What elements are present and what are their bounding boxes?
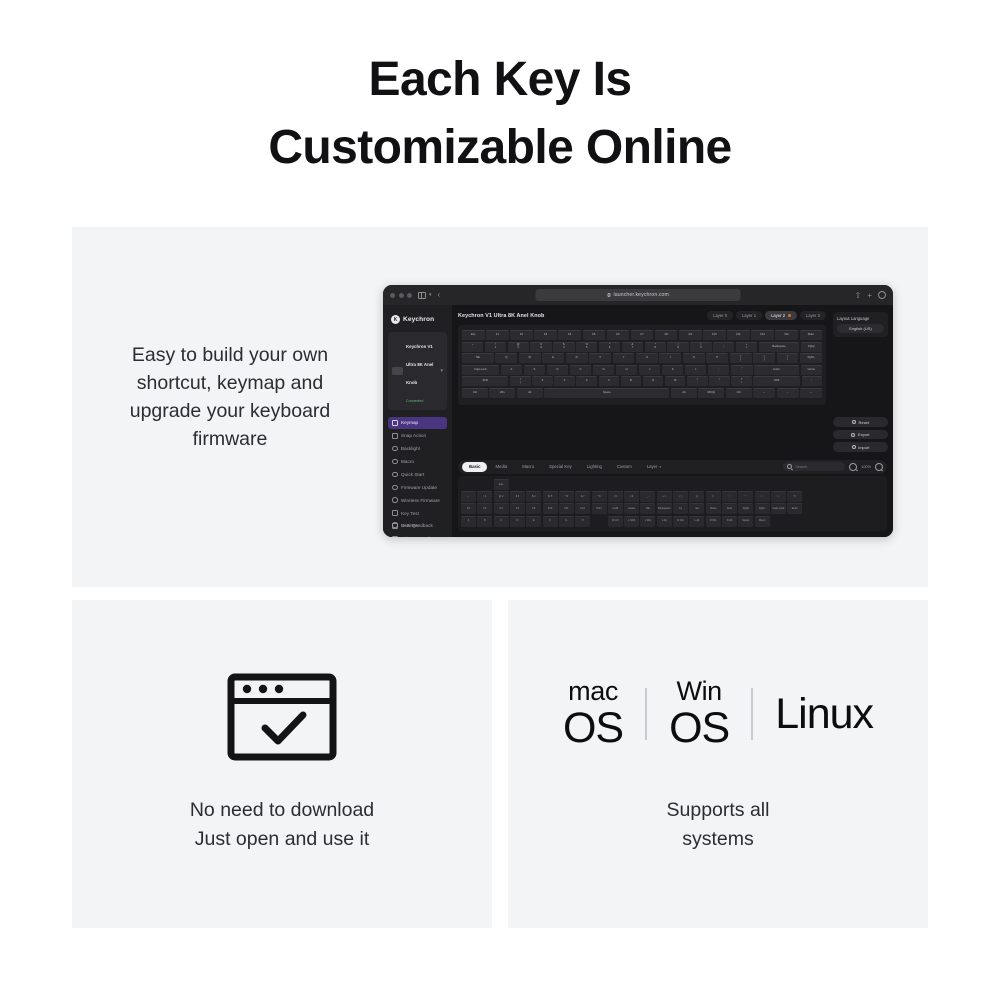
palette-row: F1F2F3F4F5F10F11F12PrintscrollpauseTabBa… bbox=[461, 503, 884, 514]
key-z[interactable]: Z bbox=[532, 376, 553, 386]
key-enter[interactable]: Enter bbox=[754, 365, 799, 375]
palette-key-blank bbox=[853, 503, 868, 514]
key--[interactable]: "' bbox=[731, 365, 752, 375]
os-divider-1 bbox=[645, 688, 647, 740]
tab-label: Macro bbox=[522, 464, 534, 469]
palette-key-end[interactable]: End bbox=[722, 503, 737, 514]
key-f[interactable]: F bbox=[570, 365, 591, 375]
tab-label: Media bbox=[495, 464, 507, 469]
key--[interactable]: ← bbox=[753, 388, 775, 398]
sidebar-footer: Settings bbox=[388, 519, 447, 531]
layer-tab-1[interactable]: Layer 1 bbox=[736, 311, 762, 320]
right-panel-actions: ResetExportImport bbox=[833, 417, 888, 452]
palette-key-blank bbox=[820, 479, 835, 490]
key--8[interactable]: *8 bbox=[645, 342, 666, 352]
palette-key-space[interactable]: Space bbox=[738, 516, 753, 527]
gear-icon bbox=[392, 522, 398, 528]
key-l[interactable]: L bbox=[685, 365, 706, 375]
palette-key-print[interactable]: Print bbox=[592, 503, 607, 514]
tab-layer[interactable]: Layer▾ bbox=[640, 462, 669, 472]
palette-key-tab[interactable]: Tab bbox=[640, 503, 655, 514]
palette-key-blank bbox=[510, 479, 525, 490]
key--0[interactable]: )0 bbox=[690, 342, 711, 352]
key--5[interactable]: %5 bbox=[576, 342, 597, 352]
key-f12[interactable]: F12 bbox=[751, 330, 774, 340]
key-f8[interactable]: F8 bbox=[655, 330, 678, 340]
palette-key-blank bbox=[771, 479, 786, 490]
toolbar-tools: Search 100% bbox=[783, 462, 883, 471]
key-f6[interactable]: F6 bbox=[607, 330, 630, 340]
macro-icon bbox=[392, 459, 398, 465]
sidebar-item-label: Wireless Firmware bbox=[401, 498, 440, 503]
os-support-caption: Supports all systems bbox=[508, 796, 928, 854]
keycode-tabs: BasicMediaMacroSpecial KeyLightingCustom… bbox=[462, 462, 668, 472]
palette-key-home[interactable]: Home bbox=[706, 503, 721, 514]
palette-key-f10[interactable]: F10 bbox=[543, 503, 558, 514]
sidebar-item-label: Backlight bbox=[401, 446, 420, 451]
palette-key-blank bbox=[624, 479, 639, 490]
palette-key-f5[interactable]: F5 bbox=[526, 503, 541, 514]
export-button[interactable]: Export bbox=[833, 430, 888, 440]
palette-key-blank bbox=[657, 479, 672, 490]
palette-key--[interactable]: : ; bbox=[722, 491, 737, 502]
key-f11[interactable]: F11 bbox=[727, 330, 750, 340]
key--[interactable]: ~` bbox=[462, 342, 483, 352]
zoom-in-icon[interactable] bbox=[875, 463, 883, 471]
palette-key-h[interactable]: H bbox=[575, 516, 590, 527]
app-screenshot-mock: ▾ ‹ launcher.keychron.com ⇧ + K Keychron bbox=[383, 285, 893, 537]
reset-icon bbox=[852, 420, 856, 424]
key--4[interactable]: $4 bbox=[553, 342, 574, 352]
key-f1[interactable]: F1 bbox=[486, 330, 509, 340]
palette-key--6[interactable]: ^ 6 bbox=[559, 491, 574, 502]
palette-key-blank bbox=[689, 479, 704, 490]
palette-key-menu[interactable]: Menu bbox=[755, 516, 770, 527]
palette-key-blank bbox=[804, 503, 819, 514]
palette-key-e[interactable]: E bbox=[526, 516, 541, 527]
key--9[interactable]: (9 bbox=[667, 342, 688, 352]
palette-key-l-win[interactable]: L Win bbox=[640, 516, 655, 527]
tab-label: Custom bbox=[617, 464, 632, 469]
page-title: Each Key Is Customizable Online bbox=[0, 46, 1000, 182]
palette-row: ABCDEFGHR CtrlL ShiftL WinL AltR CtrlL A… bbox=[461, 516, 884, 527]
palette-key-enter[interactable]: Enter bbox=[787, 503, 802, 514]
layer-tab-3[interactable]: Layer 3 bbox=[800, 311, 826, 320]
caption-line-2: Just open and use it bbox=[195, 828, 370, 850]
palette-key-pause[interactable]: pause bbox=[624, 503, 639, 514]
headline-line-1: Each Key Is bbox=[369, 53, 632, 106]
key--[interactable]: ↑ bbox=[802, 376, 823, 386]
palette-key--0[interactable]: ) 0 bbox=[624, 491, 639, 502]
palette-row: Esc bbox=[461, 479, 884, 490]
reset-button[interactable]: Reset bbox=[833, 417, 888, 427]
wireless-firmware-icon bbox=[392, 497, 398, 503]
app-main: Keychron V1 Ultra 8K Anel Knob Layer 0La… bbox=[452, 305, 893, 537]
sidebar-item-key-test[interactable]: Key Test bbox=[388, 507, 447, 519]
key-test-icon bbox=[392, 510, 398, 516]
keyboard-row: EscF1F2F3F4F5F6F7F8F9F10F11F12DelMute bbox=[462, 330, 822, 340]
tab-special-key[interactable]: Special Key bbox=[542, 462, 579, 472]
key-ctrl[interactable]: Ctrl bbox=[462, 388, 488, 398]
key-shift[interactable]: Shift bbox=[462, 376, 508, 386]
feature-card-no-download bbox=[72, 600, 492, 928]
top-card-blurb: Easy to build your own shortcut, keymap … bbox=[106, 341, 354, 453]
os-lockup: mac OS Win OS Linux bbox=[508, 668, 928, 760]
sidebar-item-label: Key Test bbox=[401, 511, 419, 516]
advance-mode-icon bbox=[392, 536, 398, 537]
tab-lighting[interactable]: Lighting bbox=[580, 462, 609, 472]
keyboard-row: Shift\|ZXCVBNM<,>.?/Shift↑ bbox=[462, 376, 822, 386]
traffic-lights-icon[interactable] bbox=[390, 293, 412, 298]
palette-key-blank bbox=[559, 479, 574, 490]
key--7[interactable]: &7 bbox=[622, 342, 643, 352]
browser-chrome: ▾ ‹ launcher.keychron.com ⇧ + bbox=[383, 285, 893, 305]
palette-key-d[interactable]: D bbox=[510, 516, 525, 527]
key-pgdn[interactable]: PgDn bbox=[800, 353, 822, 363]
key-f3[interactable]: F3 bbox=[534, 330, 557, 340]
key-backspace[interactable]: Backspace bbox=[759, 342, 799, 352]
sidebar-item-keymap[interactable]: Keymap bbox=[388, 417, 447, 429]
key--[interactable]: }] bbox=[753, 353, 775, 363]
palette-key-c[interactable]: C bbox=[494, 516, 509, 527]
key-v[interactable]: V bbox=[599, 376, 620, 386]
sidebar-item-quick-start[interactable]: Quick Start bbox=[388, 469, 447, 481]
palette-key-blank bbox=[804, 516, 819, 527]
export-icon bbox=[851, 433, 855, 437]
palette-key-del[interactable]: del bbox=[689, 503, 704, 514]
search-placeholder: Search bbox=[795, 465, 807, 469]
key-ctrl[interactable]: Ctrl bbox=[726, 388, 752, 398]
tabs-overview-icon[interactable] bbox=[878, 291, 886, 299]
key--[interactable]: ?/ bbox=[731, 376, 752, 386]
palette-key--5[interactable]: % 5 bbox=[543, 491, 558, 502]
key-f5[interactable]: F5 bbox=[583, 330, 606, 340]
key--1[interactable]: !1 bbox=[485, 342, 506, 352]
keyboard-title: Keychron V1 Ultra 8K Anel Knob bbox=[458, 313, 544, 319]
palette-key-f4[interactable]: F4 bbox=[510, 503, 525, 514]
key-f10[interactable]: F10 bbox=[703, 330, 726, 340]
caption-line-2: systems bbox=[682, 828, 754, 850]
key--[interactable]: ↓ bbox=[777, 388, 799, 398]
sidebar-item-snap-action[interactable]: Snap Action bbox=[388, 430, 447, 442]
palette-key--[interactable]: ? / bbox=[787, 491, 802, 502]
palette-key-blank bbox=[853, 516, 868, 527]
browser-toolbar-right[interactable]: ⇧ + bbox=[855, 291, 886, 300]
key--[interactable]: \| bbox=[510, 376, 531, 386]
palette-key-r-win[interactable]: R Win bbox=[706, 516, 721, 527]
key-x[interactable]: X bbox=[554, 376, 575, 386]
zoom-out-icon[interactable] bbox=[849, 463, 857, 471]
key--[interactable]: {[ bbox=[730, 353, 752, 363]
share-icon[interactable]: ⇧ bbox=[855, 291, 862, 300]
device-selector[interactable]: Keychron V1 Ultra 8K Anel Knob Connected… bbox=[388, 332, 447, 410]
palette-key-r-alt[interactable]: R Alt bbox=[722, 516, 737, 527]
key--[interactable]: → bbox=[800, 388, 822, 398]
tab-label: Layer bbox=[647, 464, 658, 469]
keychron-mark-icon: K bbox=[391, 315, 400, 324]
palette-key-f[interactable]: F bbox=[543, 516, 558, 527]
sidebar-item-settings[interactable]: Settings bbox=[388, 519, 447, 531]
key-f7[interactable]: F7 bbox=[631, 330, 654, 340]
sidebar-item-label: Keymap bbox=[401, 420, 418, 425]
keycode-toolbar: BasicMediaMacroSpecial KeyLightingCustom… bbox=[458, 460, 887, 474]
key-esc[interactable]: Esc bbox=[462, 330, 485, 340]
key-s[interactable]: S bbox=[524, 365, 545, 375]
key-i[interactable]: I bbox=[659, 353, 681, 363]
palette-key-blank bbox=[755, 479, 770, 490]
keyboard-header: Keychron V1 Ultra 8K Anel Knob Layer 0La… bbox=[458, 311, 826, 320]
palette-key-g[interactable]: G bbox=[559, 516, 574, 527]
layer-tab-0[interactable]: Layer 0 bbox=[707, 311, 733, 320]
key-m[interactable]: M bbox=[665, 376, 686, 386]
sidebar-item-firmware-update[interactable]: Firmware Update bbox=[388, 481, 447, 493]
palette-key-scroll[interactable]: scroll bbox=[608, 503, 623, 514]
key-y[interactable]: Y bbox=[613, 353, 635, 363]
key-tab[interactable]: Tab bbox=[462, 353, 494, 363]
palette-key--2[interactable]: @ 2 bbox=[494, 491, 509, 502]
app-body: K Keychron Keychron V1 Ultra 8K Anel Kno… bbox=[383, 305, 893, 537]
key--[interactable]: :; bbox=[708, 365, 729, 375]
key-pgup[interactable]: PgUp bbox=[801, 342, 822, 352]
sidebar-item-backlight[interactable]: Backlight bbox=[388, 443, 447, 455]
keyboard-diagram[interactable]: EscF1F2F3F4F5F6F7F8F9F10F11F12DelMute~`!… bbox=[458, 325, 826, 405]
palette-key--[interactable]: > . bbox=[771, 491, 786, 502]
tab-label: Lighting bbox=[587, 464, 602, 469]
key-t[interactable]: T bbox=[589, 353, 611, 363]
palette-key-b[interactable]: B bbox=[477, 516, 492, 527]
keycode-palette[interactable]: Esc~ `! 1@ 2# 3$ 4% 5^ 6& 7* 8( 9) 0_ -+… bbox=[458, 476, 887, 531]
lock-icon bbox=[607, 293, 611, 297]
palette-key-blank bbox=[592, 516, 607, 527]
new-tab-icon[interactable]: + bbox=[867, 291, 872, 300]
key-f4[interactable]: F4 bbox=[558, 330, 581, 340]
keyboard-visual-wrap: Keychron V1 Ultra 8K Anel Knob Layer 0La… bbox=[452, 305, 831, 457]
key-p[interactable]: P bbox=[706, 353, 728, 363]
sidebar-toggle-icon[interactable]: ▾ bbox=[418, 292, 432, 299]
key-b[interactable]: B bbox=[621, 376, 642, 386]
key-e[interactable]: E bbox=[542, 353, 564, 363]
palette-key-blank bbox=[804, 479, 819, 490]
caption-line-1: No need to download bbox=[190, 799, 374, 821]
palette-key-esc[interactable]: Esc bbox=[494, 479, 509, 490]
key-n[interactable]: N bbox=[643, 376, 664, 386]
palette-key-blank bbox=[640, 479, 655, 490]
caption-line-1: Supports all bbox=[667, 799, 770, 821]
key-caps-lock[interactable]: Caps Lock bbox=[462, 365, 499, 375]
key-home[interactable]: Home bbox=[801, 365, 822, 375]
palette-key-blank bbox=[869, 479, 884, 490]
layer-tab-label: Layer 3 bbox=[806, 313, 820, 318]
palette-key-blank bbox=[608, 479, 623, 490]
palette-key-f1[interactable]: F1 bbox=[461, 503, 476, 514]
os-macos-small: mac bbox=[568, 678, 618, 705]
key-del[interactable]: Del bbox=[775, 330, 798, 340]
palette-key--[interactable]: + = bbox=[657, 491, 672, 502]
key--2[interactable]: @2 bbox=[508, 342, 529, 352]
palette-key--9[interactable]: ( 9 bbox=[608, 491, 623, 502]
palette-key-blank bbox=[869, 503, 884, 514]
palette-key--4[interactable]: $ 4 bbox=[526, 491, 541, 502]
sidebar-item-macro[interactable]: Macro bbox=[388, 456, 447, 468]
key-o[interactable]: O bbox=[683, 353, 705, 363]
palette-key-f3[interactable]: F3 bbox=[494, 503, 509, 514]
key-g[interactable]: G bbox=[593, 365, 614, 375]
button-label: Import bbox=[858, 445, 869, 450]
palette-key-blank bbox=[853, 491, 868, 502]
palette-key--[interactable]: | \ bbox=[706, 491, 721, 502]
keyboard-row: CtrlWinAltSpaceAltMO(1)Ctrl←↓→ bbox=[462, 388, 822, 398]
sidebar-item-label: Advance Mode bbox=[401, 536, 432, 537]
palette-key-l-alt[interactable]: L Alt bbox=[689, 516, 704, 527]
palette-key-blank bbox=[738, 479, 753, 490]
palette-key--8[interactable]: * 8 bbox=[592, 491, 607, 502]
layout-language-label: Layout Language bbox=[837, 316, 884, 321]
key-d[interactable]: D bbox=[547, 365, 568, 375]
palette-key--7[interactable]: & 7 bbox=[575, 491, 590, 502]
palette-key-blank bbox=[836, 516, 851, 527]
palette-key-blank bbox=[836, 503, 851, 514]
key--6[interactable]: ^6 bbox=[599, 342, 620, 352]
sidebar-item-advance-mode[interactable]: Advance Mode bbox=[388, 533, 447, 537]
palette-key-pgup[interactable]: PgUp bbox=[738, 503, 753, 514]
palette-key-backspace[interactable]: Backspace bbox=[657, 503, 672, 514]
address-bar-url: launcher.keychron.com bbox=[614, 292, 669, 298]
os-windows-small: Win bbox=[677, 678, 722, 705]
chevron-down-icon: ▾ bbox=[659, 465, 661, 469]
palette-key-f12[interactable]: F12 bbox=[575, 503, 590, 514]
key-space[interactable]: Space bbox=[544, 388, 669, 398]
search-icon bbox=[787, 464, 792, 469]
palette-key--1[interactable]: ! 1 bbox=[477, 491, 492, 502]
active-layer-indicator bbox=[788, 314, 792, 318]
key-mute[interactable]: Mute bbox=[800, 330, 823, 340]
palette-key-l-shift[interactable]: L Shift bbox=[624, 516, 639, 527]
palette-key-blank bbox=[461, 479, 476, 490]
tab-macro[interactable]: Macro bbox=[515, 462, 541, 472]
key-mo-1-[interactable]: MO(1) bbox=[698, 388, 724, 398]
tab-media[interactable]: Media bbox=[488, 462, 514, 472]
firmware-update-icon bbox=[392, 485, 398, 491]
zoom-level: 100% bbox=[861, 465, 871, 469]
key-shift[interactable]: Shift bbox=[753, 376, 799, 386]
key-alt[interactable]: Alt bbox=[517, 388, 543, 398]
palette-key--[interactable]: < , bbox=[755, 491, 770, 502]
import-button[interactable]: Import bbox=[833, 442, 888, 452]
key--[interactable]: <, bbox=[687, 376, 708, 386]
key-k[interactable]: K bbox=[662, 365, 683, 375]
palette-key-r-ctrl[interactable]: R Ctrl bbox=[608, 516, 623, 527]
key-u[interactable]: U bbox=[636, 353, 658, 363]
palette-key-r-ctrl[interactable]: R Ctrl bbox=[673, 516, 688, 527]
os-linux-label: Linux bbox=[775, 693, 873, 736]
palette-key--[interactable]: } ] bbox=[689, 491, 704, 502]
palette-key-blank bbox=[706, 479, 721, 490]
tab-basic[interactable]: Basic bbox=[462, 462, 487, 472]
import-icon bbox=[852, 445, 856, 449]
layout-language-select[interactable]: English (US) bbox=[837, 324, 884, 333]
sidebar-item-wireless-firmware[interactable]: Wireless Firmware bbox=[388, 494, 447, 506]
key--[interactable]: >. bbox=[709, 376, 730, 386]
palette-key-ins[interactable]: ins bbox=[673, 503, 688, 514]
key-a[interactable]: A bbox=[501, 365, 522, 375]
palette-key-blank bbox=[477, 479, 492, 490]
layer-tab-label: Layer 0 bbox=[713, 313, 727, 318]
palette-key--[interactable]: ~ ` bbox=[461, 491, 476, 502]
key--[interactable]: |\ bbox=[777, 353, 799, 363]
layout-language-box: Layout Language English (US) bbox=[833, 312, 888, 337]
layer-tab-label: Layer 1 bbox=[742, 313, 756, 318]
tab-label: Special Key bbox=[549, 464, 572, 469]
palette-key-blank bbox=[543, 479, 558, 490]
palette-key-blank bbox=[853, 479, 868, 490]
os-windows: Win OS bbox=[669, 678, 729, 750]
palette-key--[interactable]: " ' bbox=[738, 491, 753, 502]
palette-key--3[interactable]: # 3 bbox=[510, 491, 525, 502]
layer-tabs: Layer 0Layer 1Layer 2Layer 3 bbox=[707, 311, 826, 320]
sidebar-item-label: Macro bbox=[401, 459, 414, 464]
palette-key-blank bbox=[526, 479, 541, 490]
palette-key--[interactable]: { [ bbox=[673, 491, 688, 502]
keyboard-row: TabQWERTYUIOP{[}]|\PgDn bbox=[462, 353, 822, 363]
keyboard-row: Caps LockASDFGHJKL:;"'EnterHome bbox=[462, 365, 822, 375]
palette-key-pgdn[interactable]: PgDn bbox=[755, 503, 770, 514]
chevron-down-icon[interactable]: ▾ bbox=[440, 368, 443, 374]
key-f2[interactable]: F2 bbox=[510, 330, 533, 340]
brand-logo: K Keychron bbox=[391, 315, 447, 324]
palette-key-blank bbox=[771, 516, 786, 527]
palette-key-a[interactable]: A bbox=[461, 516, 476, 527]
palette-key-blank bbox=[722, 479, 737, 490]
search-input[interactable]: Search bbox=[783, 462, 845, 471]
tab-custom[interactable]: Custom bbox=[610, 462, 639, 472]
palette-key-blank bbox=[820, 516, 835, 527]
palette-key-f11[interactable]: F11 bbox=[559, 503, 574, 514]
palette-key-l-alt[interactable]: L Alt bbox=[657, 516, 672, 527]
palette-key-blank bbox=[575, 479, 590, 490]
palette-key-f2[interactable]: F2 bbox=[477, 503, 492, 514]
sidebar-item-label: Firmware Update bbox=[401, 485, 437, 490]
back-chevron-icon[interactable]: ‹ bbox=[438, 291, 441, 299]
snap-action-icon bbox=[392, 433, 398, 439]
device-name: Keychron V1 Ultra 8K Anel Knob bbox=[406, 344, 433, 385]
layer-tab-2[interactable]: Layer 2 bbox=[765, 311, 797, 320]
device-thumbnail-icon bbox=[392, 367, 403, 375]
key-win[interactable]: Win bbox=[489, 388, 515, 398]
key--3[interactable]: #3 bbox=[530, 342, 551, 352]
palette-key-blank bbox=[820, 491, 835, 502]
keymap-area: Keychron V1 Ultra 8K Anel Knob Layer 0La… bbox=[452, 305, 893, 457]
key-c[interactable]: C bbox=[576, 376, 597, 386]
key-j[interactable]: J bbox=[639, 365, 660, 375]
key-h[interactable]: H bbox=[616, 365, 637, 375]
palette-key-blank bbox=[673, 479, 688, 490]
key-r[interactable]: R bbox=[566, 353, 588, 363]
key-q[interactable]: Q bbox=[495, 353, 517, 363]
palette-key--[interactable]: _ - bbox=[640, 491, 655, 502]
key-f9[interactable]: F9 bbox=[679, 330, 702, 340]
key-alt[interactable]: Alt bbox=[671, 388, 697, 398]
backlight-icon bbox=[392, 446, 398, 452]
key--[interactable]: += bbox=[736, 342, 757, 352]
key--[interactable]: _- bbox=[713, 342, 734, 352]
address-bar[interactable]: launcher.keychron.com bbox=[536, 289, 741, 301]
headline-line-2: Customizable Online bbox=[0, 114, 1000, 182]
palette-key-caps-lock[interactable]: Caps Lock bbox=[771, 503, 786, 514]
tab-label: Basic bbox=[469, 464, 480, 469]
os-windows-large: OS bbox=[669, 707, 729, 750]
feature-card-os-support bbox=[508, 600, 928, 928]
key-w[interactable]: W bbox=[519, 353, 541, 363]
